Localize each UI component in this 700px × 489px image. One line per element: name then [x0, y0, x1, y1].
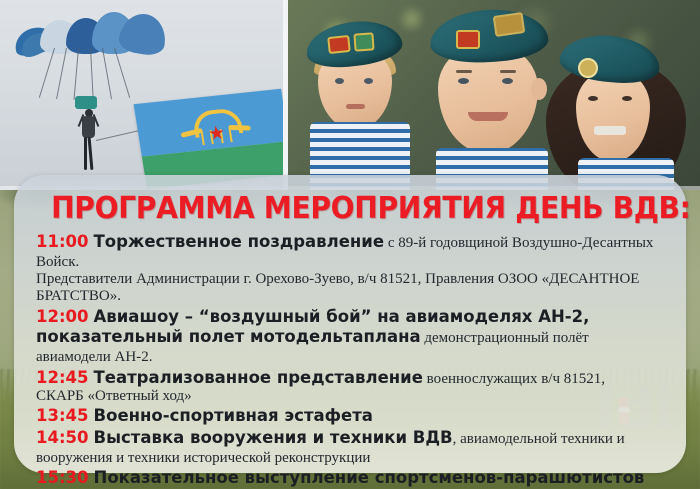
event-time: 14:50: [36, 428, 89, 447]
event-title: Театрализованное представление: [94, 368, 423, 387]
event-title: Выставка вооружения и техники ВДВ: [94, 428, 453, 447]
program-list: 11:00Торжественное поздравление с 89-й г…: [32, 232, 668, 489]
photo-band: [0, 0, 700, 190]
list-item: 12:00Авиашоу – “воздушный бой” на авиамо…: [36, 307, 664, 367]
event-detail: военнослужащих в/ч 81521,: [423, 371, 605, 387]
program-panel: ПРОГРАММА МЕРОПРИЯТИЯ ДЕНЬ ВДВ: 11:00Тор…: [14, 175, 686, 473]
vdv-parachute-emblem-icon: [184, 107, 248, 155]
event-time: 12:00: [36, 307, 89, 326]
parachute-lines: [54, 48, 124, 100]
photo-family: [288, 0, 700, 190]
page-title: ПРОГРАММА МЕРОПРИЯТИЯ ДЕНЬ ВДВ:: [51, 191, 649, 226]
event-time: 12:45: [36, 368, 89, 387]
event-detail-2: СКАРБ «Ответный ход»: [36, 388, 664, 405]
list-item: 13:45Военно-спортивная эстафета: [36, 406, 664, 427]
event-title: Торжественное поздравление: [94, 232, 385, 251]
event-title: Показательное выступление спортсменов-па…: [94, 468, 645, 487]
event-time: 13:45: [36, 406, 89, 425]
event-time: 11:00: [36, 232, 89, 251]
event-detail-2: Представители Администрации г. Орехово-З…: [36, 271, 664, 306]
list-item: 15:30Показательное выступление спортсмен…: [36, 468, 664, 489]
event-title: Военно-спортивная эстафета: [94, 406, 373, 425]
list-item: 14:50Выставка вооружения и техники ВДВ, …: [36, 428, 664, 467]
event-time: 15:30: [36, 468, 89, 487]
photo-divider: [283, 0, 288, 190]
list-item: 11:00Торжественное поздравление с 89-й г…: [36, 232, 664, 306]
photo-parachutist: [0, 0, 283, 190]
parachute-canopy-icon: [14, 6, 164, 54]
list-item: 12:45Театрализованное представление воен…: [36, 368, 664, 406]
poster: ldi: [0, 0, 700, 489]
